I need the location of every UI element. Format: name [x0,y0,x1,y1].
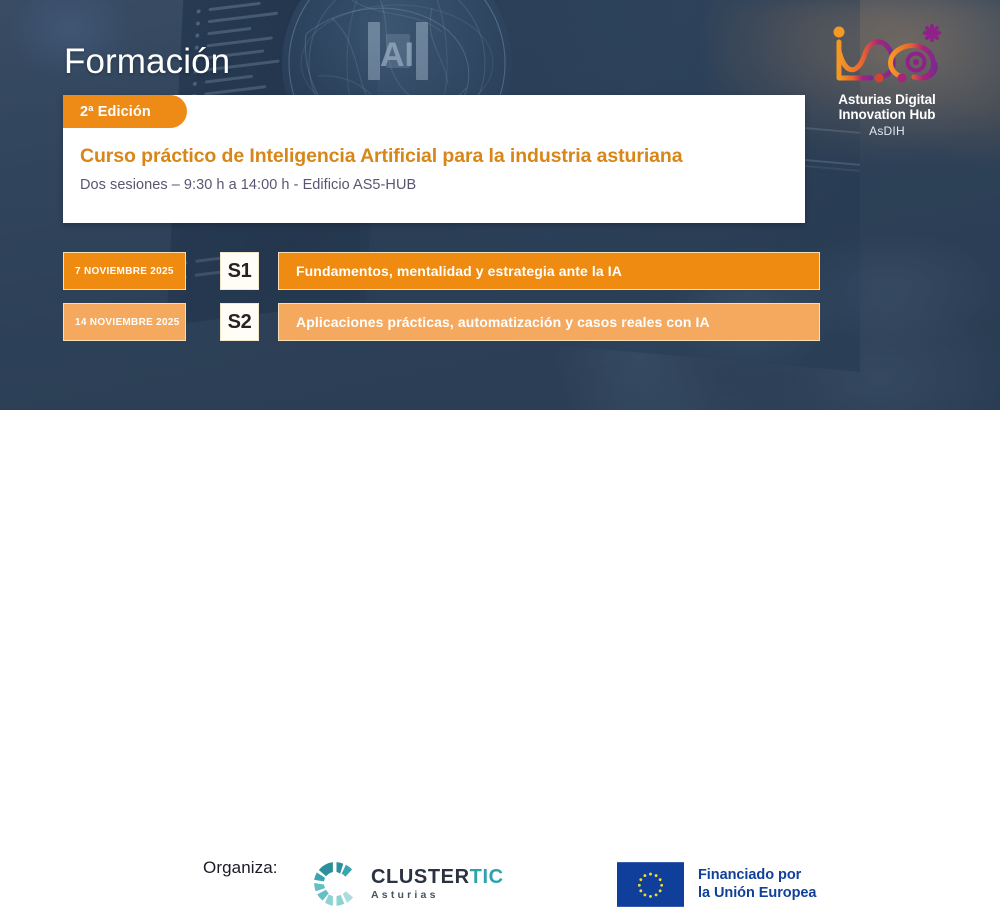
eu-funding-text: Financiado por la Unión Europea [698,867,816,902]
page-title: Formación [64,44,230,79]
session-row: 14 NOVIEMBRE 2025 S2 Aplicaciones prácti… [63,303,820,341]
eu-text-line-2: la Unión Europea [698,885,816,903]
hero-section: AI Formación 2ª Edición Curso práctico d… [0,0,1000,410]
asdih-logo: Asturias Digital Innovation Hub AsDIH [807,18,967,138]
clustertic-wordmark: CLUSTERTIC Asturias [371,867,504,901]
asdih-logo-name: Asturias Digital Innovation Hub [807,92,967,122]
clustertic-name: CLUSTERTIC [371,867,504,887]
session-row: 7 NOVIEMBRE 2025 S1 Fundamentos, mentali… [63,252,820,290]
clustertic-logo: CLUSTERTIC Asturias [310,860,504,908]
session-title-bar: Aplicaciones prácticas, automatización y… [278,303,820,341]
asdih-name-line-1: Asturias Digital [807,92,967,107]
asdih-abbreviation: AsDIH [807,124,967,138]
course-subtitle: Dos sesiones – 9:30 h a 14:00 h - Edific… [80,177,416,193]
edition-badge: 2ª Edición [63,95,187,128]
session-date-badge: 7 NOVIEMBRE 2025 [63,252,186,290]
session-title-bar: Fundamentos, mentalidad y estrategia ant… [278,252,820,290]
course-card: 2ª Edición Curso práctico de Inteligenci… [63,95,805,223]
clustertic-word-accent: TIC [470,866,504,888]
poster: AI Formación 2ª Edición Curso práctico d… [0,0,1000,496]
asdih-name-line-2: Innovation Hub [807,107,967,122]
footer-section: Organiza: [0,410,1000,496]
session-date-badge: 14 NOVIEMBRE 2025 [63,303,186,341]
session-code-badge: S1 [220,252,259,290]
clustertic-word-sub: Asturias [371,889,504,901]
eu-flag-icon [617,862,684,907]
course-title: Curso práctico de Inteligencia Artificia… [80,145,682,168]
session-code-badge: S2 [220,303,259,341]
asdih-network-mark-icon [828,18,946,90]
clustertic-c-mark-icon [310,860,362,908]
eu-text-line-1: Financiado por [698,867,816,885]
organiza-label: Organiza: [203,858,278,878]
eu-funding-logo: Financiado por la Unión Europea [617,862,816,907]
clustertic-word-main: CLUSTER [371,866,470,888]
sessions-list: 7 NOVIEMBRE 2025 S1 Fundamentos, mentali… [63,252,820,354]
